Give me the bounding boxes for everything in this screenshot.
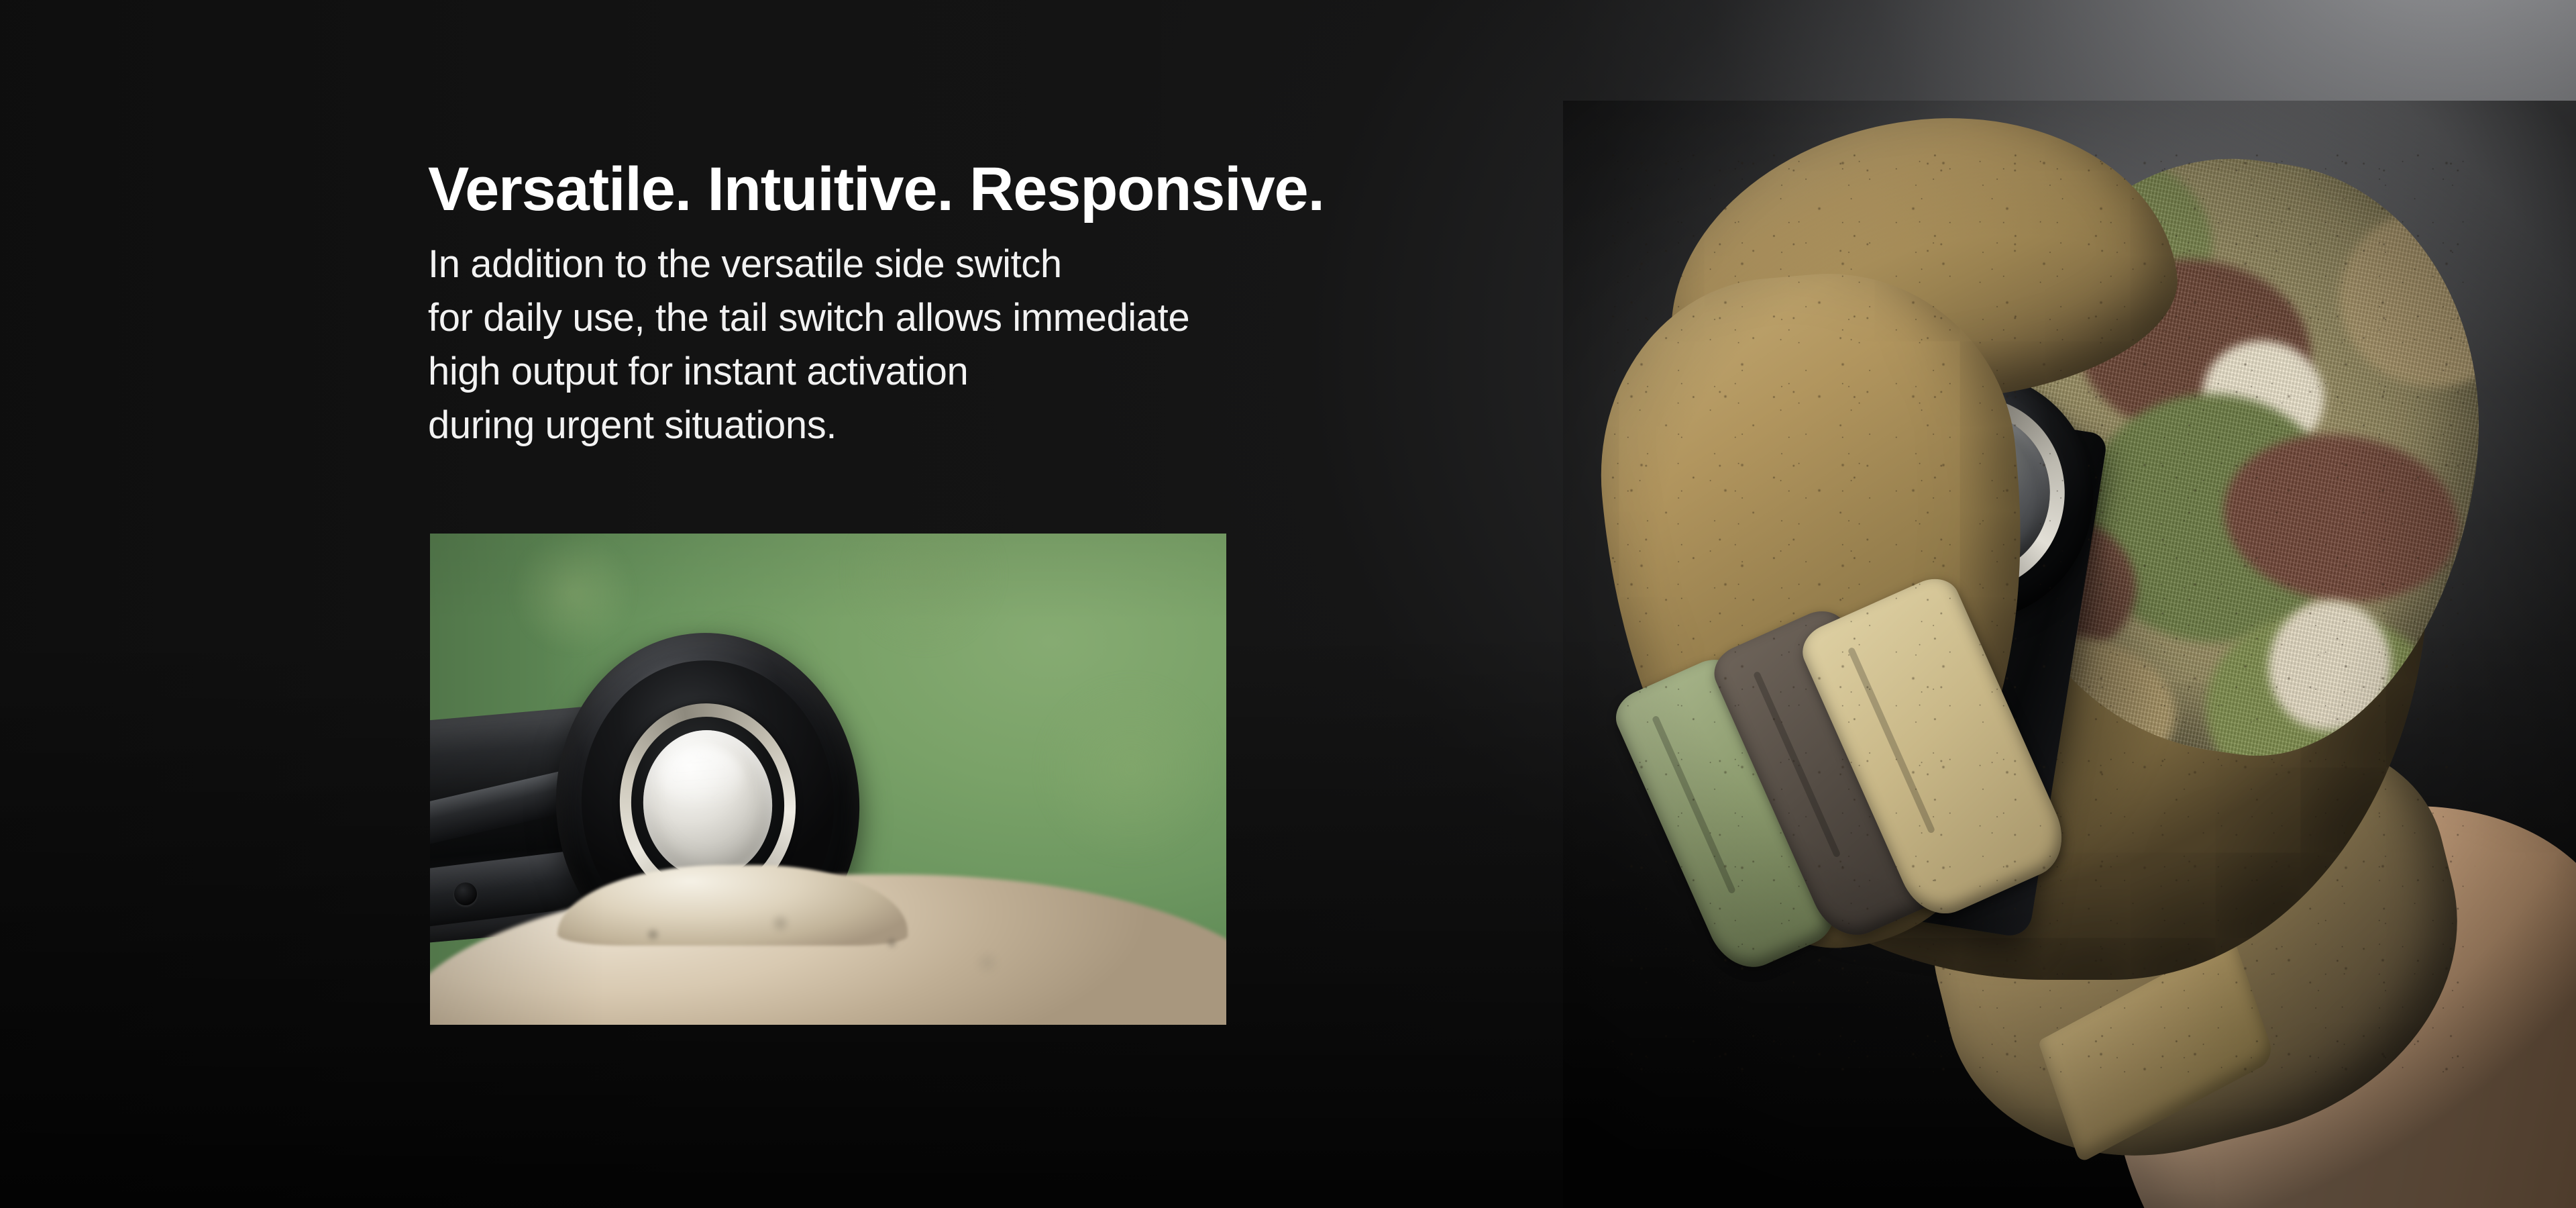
glove-knuckle-pad-groove	[1652, 715, 1736, 895]
body-line-4: during urgent situations.	[428, 399, 1501, 452]
promo-section: Versatile. Intuitive. Responsive. In add…	[0, 0, 2576, 1208]
body-line-3: high output for instant activation	[428, 345, 1501, 399]
inset-tail-switch-sheen	[657, 743, 744, 810]
body-line-1: In addition to the versatile side switch	[428, 238, 1501, 291]
inset-rock-texture	[430, 884, 1226, 1025]
body-copy: In addition to the versatile side switch…	[428, 220, 1501, 452]
copy-block: Versatile. Intuitive. Responsive. In add…	[428, 158, 1501, 452]
body-line-2: for daily use, the tail switch allows im…	[428, 291, 1501, 345]
headline: Versatile. Intuitive. Responsive.	[428, 158, 1501, 220]
hero-gloved-hand	[1563, 101, 2576, 1208]
inset-tail-switch-button	[639, 726, 777, 882]
inset-product-photo	[430, 534, 1226, 1025]
